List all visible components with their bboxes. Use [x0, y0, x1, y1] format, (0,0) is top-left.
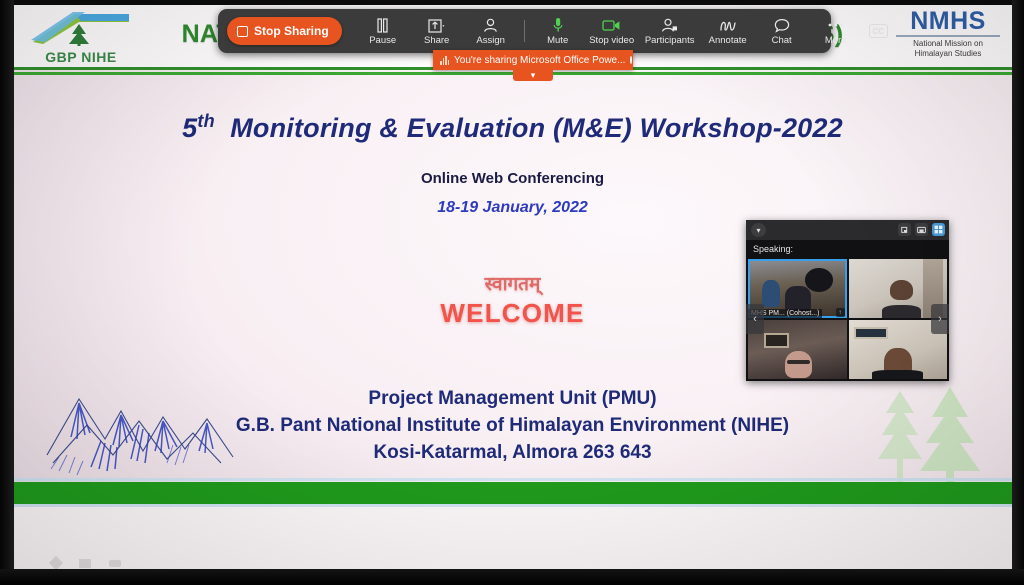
toolbar-chat-label: Chat [772, 36, 792, 46]
zoom-video-panel[interactable]: ▾ Speaking: MHS PM... (C [746, 220, 949, 381]
footer-top-rule [13, 478, 1012, 481]
sharing-status-text: You're sharing Microsoft Office Powe... [454, 55, 625, 66]
video-camera-icon [602, 17, 621, 34]
assign-person-icon [483, 17, 498, 34]
workshop-ordinal-suffix: th [197, 111, 214, 131]
stop-sharing-button[interactable]: Stop Sharing [227, 17, 342, 45]
nmhs-acronym: NMHS [890, 8, 1006, 34]
workshop-title: 5th Monitoring & Evaluation (M&E) Worksh… [13, 111, 1012, 144]
conference-dates: 18-19 January, 2022 [13, 199, 1012, 217]
faint-taskbar-icons [51, 556, 181, 570]
toolbar-annotate-label: Annotate [709, 36, 747, 46]
minimized-view-icon[interactable] [898, 223, 911, 236]
nmhs-subtitle-line-2: Himalayan Studies [890, 49, 1006, 59]
toolbar-stop-video-label: Stop video [589, 36, 634, 46]
toolbar-pause-label: Pause [369, 36, 396, 46]
chevron-right-icon[interactable]: › [931, 304, 949, 334]
toolbar-stop-video-button[interactable]: Stop video [585, 17, 639, 46]
sharing-banner-expand-button[interactable]: ▾ [513, 70, 553, 81]
participant-grid: MHS PM... (Cohost...) ↑ ‹ › [746, 257, 949, 381]
stop-square-icon [237, 26, 248, 37]
monitor-bezel-top [0, 0, 1024, 5]
workshop-title-text: Monitoring & Evaluation (M&E) Workshop-2… [230, 113, 843, 143]
gbp-nihe-logo: GBP NIHE [21, 8, 141, 66]
monitor-bezel-bottom [0, 569, 1024, 585]
pause-icon [376, 17, 389, 34]
zoom-panel-header: ▾ [746, 220, 949, 240]
chevron-down-icon[interactable]: ▾ [751, 223, 766, 237]
toolbar-share-label: Share [424, 36, 449, 46]
toolbar-divider [524, 20, 525, 42]
projector-screen-photo: NATIONAL MISSION ON HIMALAYAN STUDIES (N… [0, 0, 1024, 585]
view-mode-buttons [898, 223, 945, 236]
sharing-indicator-icon [440, 56, 449, 65]
microphone-icon [552, 17, 564, 34]
toolbar-annotate-button[interactable]: Annotate [701, 17, 755, 46]
chat-bubble-icon [774, 17, 790, 34]
toolbar-chat-button[interactable]: Chat [755, 17, 809, 46]
chevron-left-icon[interactable]: ‹ [746, 304, 764, 334]
participants-icon [661, 17, 678, 34]
nmhs-subtitle-line-1: National Mission on [890, 39, 1006, 49]
presentation-slide: NATIONAL MISSION ON HIMALAYAN STUDIES (N… [13, 4, 1012, 570]
more-dots-icon [827, 17, 845, 34]
nmhs-logo: NMHS National Mission on Himalayan Studi… [890, 8, 1006, 66]
gallery-view-icon[interactable] [932, 223, 945, 236]
annotate-squiggle-icon [719, 17, 737, 34]
toolbar-assign-label: Assign [476, 36, 505, 46]
speaker-view-icon[interactable] [915, 223, 928, 236]
toolbar-pause-button[interactable]: Pause [356, 17, 410, 46]
toolbar-more-label: More [825, 36, 847, 46]
monitor-bezel-right [1012, 0, 1024, 585]
conference-mode-label: Online Web Conferencing [13, 170, 1012, 187]
toolbar-participants-label: Participants [645, 36, 695, 46]
toolbar-more-button[interactable]: More [809, 17, 863, 46]
toolbar-mute-label: Mute [547, 36, 568, 46]
closed-caption-icon[interactable]: CC [869, 24, 888, 38]
gbp-nihe-logo-label: GBP NIHE [21, 49, 141, 65]
toolbar-share-button[interactable]: Share [410, 17, 464, 46]
stop-sharing-label: Stop Sharing [254, 24, 329, 38]
muted-microphone-icon: ↑ [836, 308, 845, 317]
toolbar-participants-button[interactable]: Participants [639, 17, 701, 46]
toolbar-mute-button[interactable]: Mute [531, 17, 585, 46]
zoom-toolbar-items: Pause Share Assign [356, 17, 888, 46]
sharing-status-banner[interactable]: You're sharing Microsoft Office Powe... [433, 50, 633, 70]
monitor-bezel-left [0, 0, 14, 585]
zoom-share-toolbar[interactable]: Stop Sharing Pause Share [218, 9, 831, 53]
share-screen-icon [428, 17, 446, 34]
speaking-indicator-label: Speaking: [746, 240, 949, 257]
toolbar-assign-button[interactable]: Assign [464, 17, 518, 46]
gbp-nihe-logo-mark [29, 10, 133, 46]
footer-green-band [13, 482, 1012, 504]
nmhs-divider [896, 35, 1000, 37]
stop-recording-icon[interactable] [630, 56, 632, 64]
mountain-illustration [43, 359, 243, 484]
workshop-ordinal-number: 5 [182, 113, 197, 143]
